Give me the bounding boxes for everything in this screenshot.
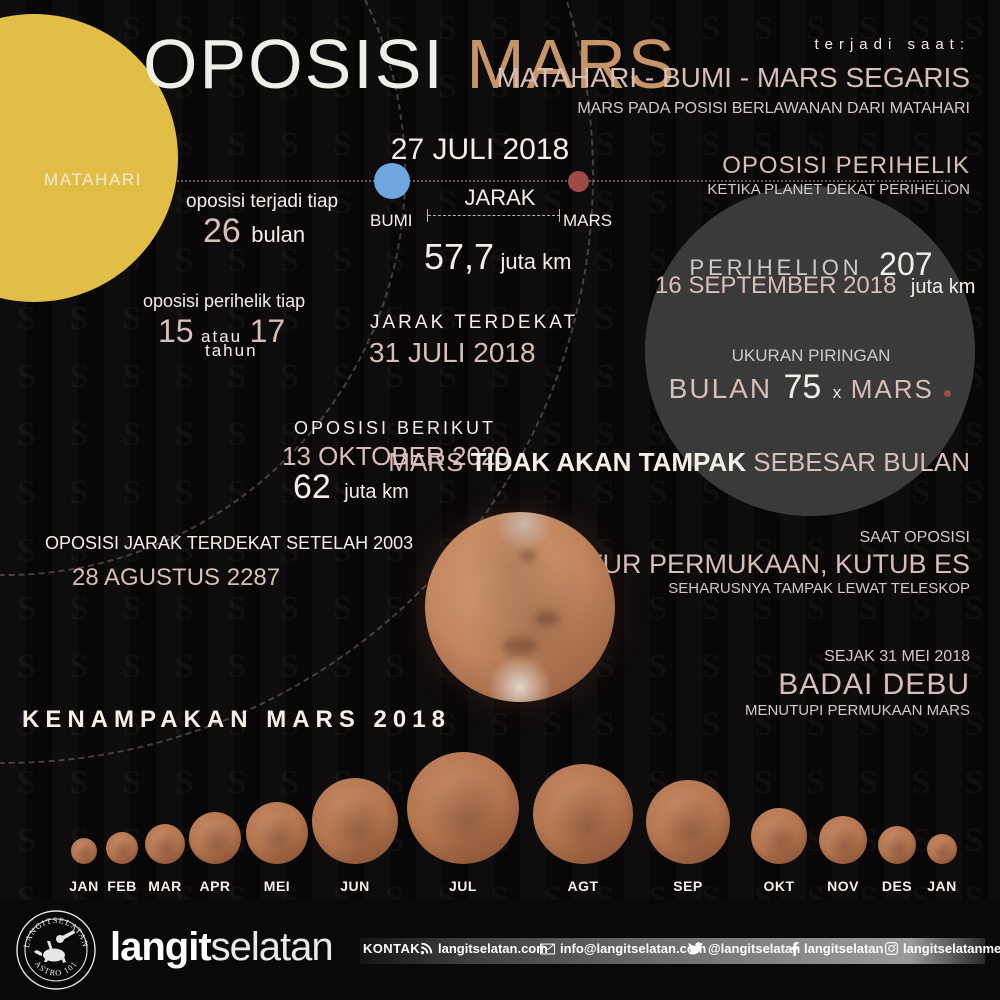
month-label-des: DES — [882, 878, 912, 894]
perihelic-subtitle: KETIKA PLANET DEKAT PERIHELION — [707, 181, 970, 198]
perihelion-date-row: 16 SEPTEMBER 2018 juta km — [655, 272, 967, 300]
brand-bold: langit — [110, 925, 211, 969]
earth-label: BUMI — [370, 211, 413, 231]
month-label-mar: MAR — [148, 878, 181, 894]
disc-size-multiplier: x — [833, 383, 842, 402]
perihelion-distance-unit: juta km — [911, 276, 975, 298]
month-label-mei: MEI — [264, 878, 290, 894]
mars-label: MARS — [563, 211, 612, 231]
next-opposition-distance-unit: juta km — [344, 481, 408, 503]
mars-disk-nov — [819, 816, 867, 864]
contact-email-text: info@langitselatan.com — [560, 941, 706, 956]
svg-text:ASTRO 101: ASTRO 101 — [33, 959, 80, 978]
mars-disk-okt — [751, 808, 807, 864]
mars-telescope-image — [425, 512, 615, 702]
month-label-jun: JUN — [340, 878, 370, 894]
mars-disk-sep — [646, 780, 730, 864]
disc-size-row: BULAN 75 x MARS — [650, 368, 970, 407]
mars-disk-jan — [71, 838, 97, 864]
sun-label: MATAHARI — [44, 170, 142, 190]
distance-value: 57,7 — [424, 236, 494, 277]
earth-planet-dot — [374, 163, 410, 199]
perihelic-title: OPOSISI PERIHELIK — [722, 152, 970, 180]
disc-size-moon: BULAN — [669, 373, 772, 404]
opposition-interval-lead: oposisi terjadi tiap — [186, 191, 338, 213]
month-label-nov: NOV — [827, 878, 859, 894]
mars-disk-agt — [533, 764, 633, 864]
perihelic-interval-lead: oposisi perihelik tiap — [143, 291, 305, 312]
next-opposition-distance-value: 62 — [293, 468, 331, 506]
surface-subline: SEHARUSNYA TAMPAK LEWAT TELESKOP — [668, 580, 970, 597]
opposition-interval-unit: bulan — [251, 222, 305, 247]
mars-disk-jul — [407, 752, 519, 864]
month-label-jan: JAN — [927, 878, 957, 894]
myth-part-a: MARS — [388, 447, 470, 477]
mars-disk-jan — [927, 834, 957, 864]
month-label-agt: AGT — [567, 878, 598, 894]
facebook-icon — [790, 942, 799, 956]
instagram-icon — [885, 942, 898, 955]
myth-part-c: SEBESAR BULAN — [753, 447, 970, 477]
perihelic-interval-value-a: 15 — [158, 313, 194, 349]
perihelic-interval-unit: tahun — [205, 341, 258, 361]
brand-light: selatan — [211, 925, 333, 969]
distance-value-group: 57,7 juta km — [424, 236, 571, 278]
mars-size-dot-icon — [944, 390, 951, 397]
appearance-section-title: KENAMPAKAN MARS 2018 — [22, 706, 451, 734]
svg-text:LANGITSELATAN: LANGITSELATAN — [22, 916, 90, 949]
mars-disk-mei — [246, 802, 308, 864]
brand-wordmark: langitselatan — [110, 925, 333, 970]
disc-size-mars: MARS — [851, 374, 934, 404]
surface-headline: FITUR PERMUKAAN, KUTUB ES — [562, 549, 970, 580]
contact-instagram-text: langitselatanmedia — [903, 941, 1000, 956]
contact-label: KONTAK: — [363, 941, 425, 956]
mars-disk-mar — [145, 824, 185, 864]
duststorm-subline: MENUTUPI PERMUKAAN MARS — [745, 702, 970, 719]
myth-statement: MARS TIDAK AKAN TAMPAK SEBESAR BULAN — [388, 447, 970, 478]
mars-disk-apr — [189, 812, 241, 864]
month-label-sep: SEP — [673, 878, 703, 894]
closest-approach-label: JARAK TERDEKAT — [370, 312, 578, 334]
surface-kicker: SAAT OPOSISI — [859, 529, 970, 547]
perihelion-date: 16 SEPTEMBER 2018 — [655, 272, 896, 299]
distance-tick-right — [559, 209, 561, 222]
contact-facebook-text: langitselatan — [804, 941, 883, 956]
mars-disk-des — [878, 826, 916, 864]
contact-facebook[interactable]: langitselatan — [790, 941, 883, 956]
twitter-icon — [688, 942, 703, 955]
contact-twitter[interactable]: @langitselatan — [688, 941, 800, 956]
header-kicker: terjadi saat: — [814, 36, 970, 53]
distance-label: JARAK — [410, 185, 590, 211]
header-subline: MARS PADA POSISI BERLAWANAN DARI MATAHAR… — [577, 100, 970, 118]
month-label-okt: OKT — [763, 878, 794, 894]
disc-size-label: UKURAN PIRINGAN — [655, 346, 967, 366]
closest-after-2003-date: 28 AGUSTUS 2287 — [72, 564, 280, 592]
rss-icon — [420, 942, 433, 955]
opposition-interval-value: 26 — [203, 212, 241, 250]
langitselatan-logo-badge: LANGITSELATAN ASTRO 101 — [14, 908, 98, 992]
distance-unit: juta km — [501, 249, 572, 274]
mars-disk-feb — [106, 832, 138, 864]
closest-after-2003-label: OPOSISI JARAK TERDEKAT SETELAH 2003 — [45, 533, 413, 554]
next-opposition-label: OPOSISI BERIKUT — [294, 418, 496, 439]
contact-website-text: langitselatan.com — [438, 941, 548, 956]
duststorm-kicker: SEJAK 31 MEI 2018 — [824, 648, 970, 666]
month-label-jan: JAN — [69, 878, 99, 894]
month-label-feb: FEB — [107, 878, 137, 894]
mars-size-comparison-row — [0, 752, 1000, 872]
myth-part-b: TIDAK AKAN TAMPAK — [471, 447, 754, 477]
opposition-date: 27 JULI 2018 — [350, 133, 610, 167]
header-headline: MATAHARI - BUMI - MARS SEGARIS — [497, 62, 970, 94]
contact-website[interactable]: langitselatan.com — [420, 941, 548, 956]
title-part-oposisi: OPOSISI — [143, 25, 445, 103]
contact-twitter-text: @langitselatan — [708, 941, 800, 956]
mail-icon — [540, 943, 555, 955]
contact-instagram[interactable]: langitselatanmedia — [885, 941, 1000, 956]
duststorm-headline: BADAI DEBU — [778, 668, 970, 702]
infographic-poster: SSSSSSSSSSSSSSSSSSSSSSSSSSSSSSSSSSSSSSSS… — [0, 0, 1000, 1000]
distance-measure-line — [428, 215, 560, 217]
disc-size-factor: 75 — [784, 368, 822, 406]
month-label-apr: APR — [199, 878, 230, 894]
opposition-interval-value-group: 26 bulan — [203, 212, 305, 251]
month-label-jul: JUL — [449, 878, 477, 894]
closest-approach-date: 31 JULI 2018 — [369, 337, 536, 369]
contact-email[interactable]: info@langitselatan.com — [540, 941, 706, 956]
mars-disk-jun — [312, 778, 398, 864]
distance-tick-left — [427, 209, 429, 222]
month-label-row: JANFEBMARAPRMEIJUNJULAGTSEPOKTNOVDESJAN — [0, 878, 1000, 898]
